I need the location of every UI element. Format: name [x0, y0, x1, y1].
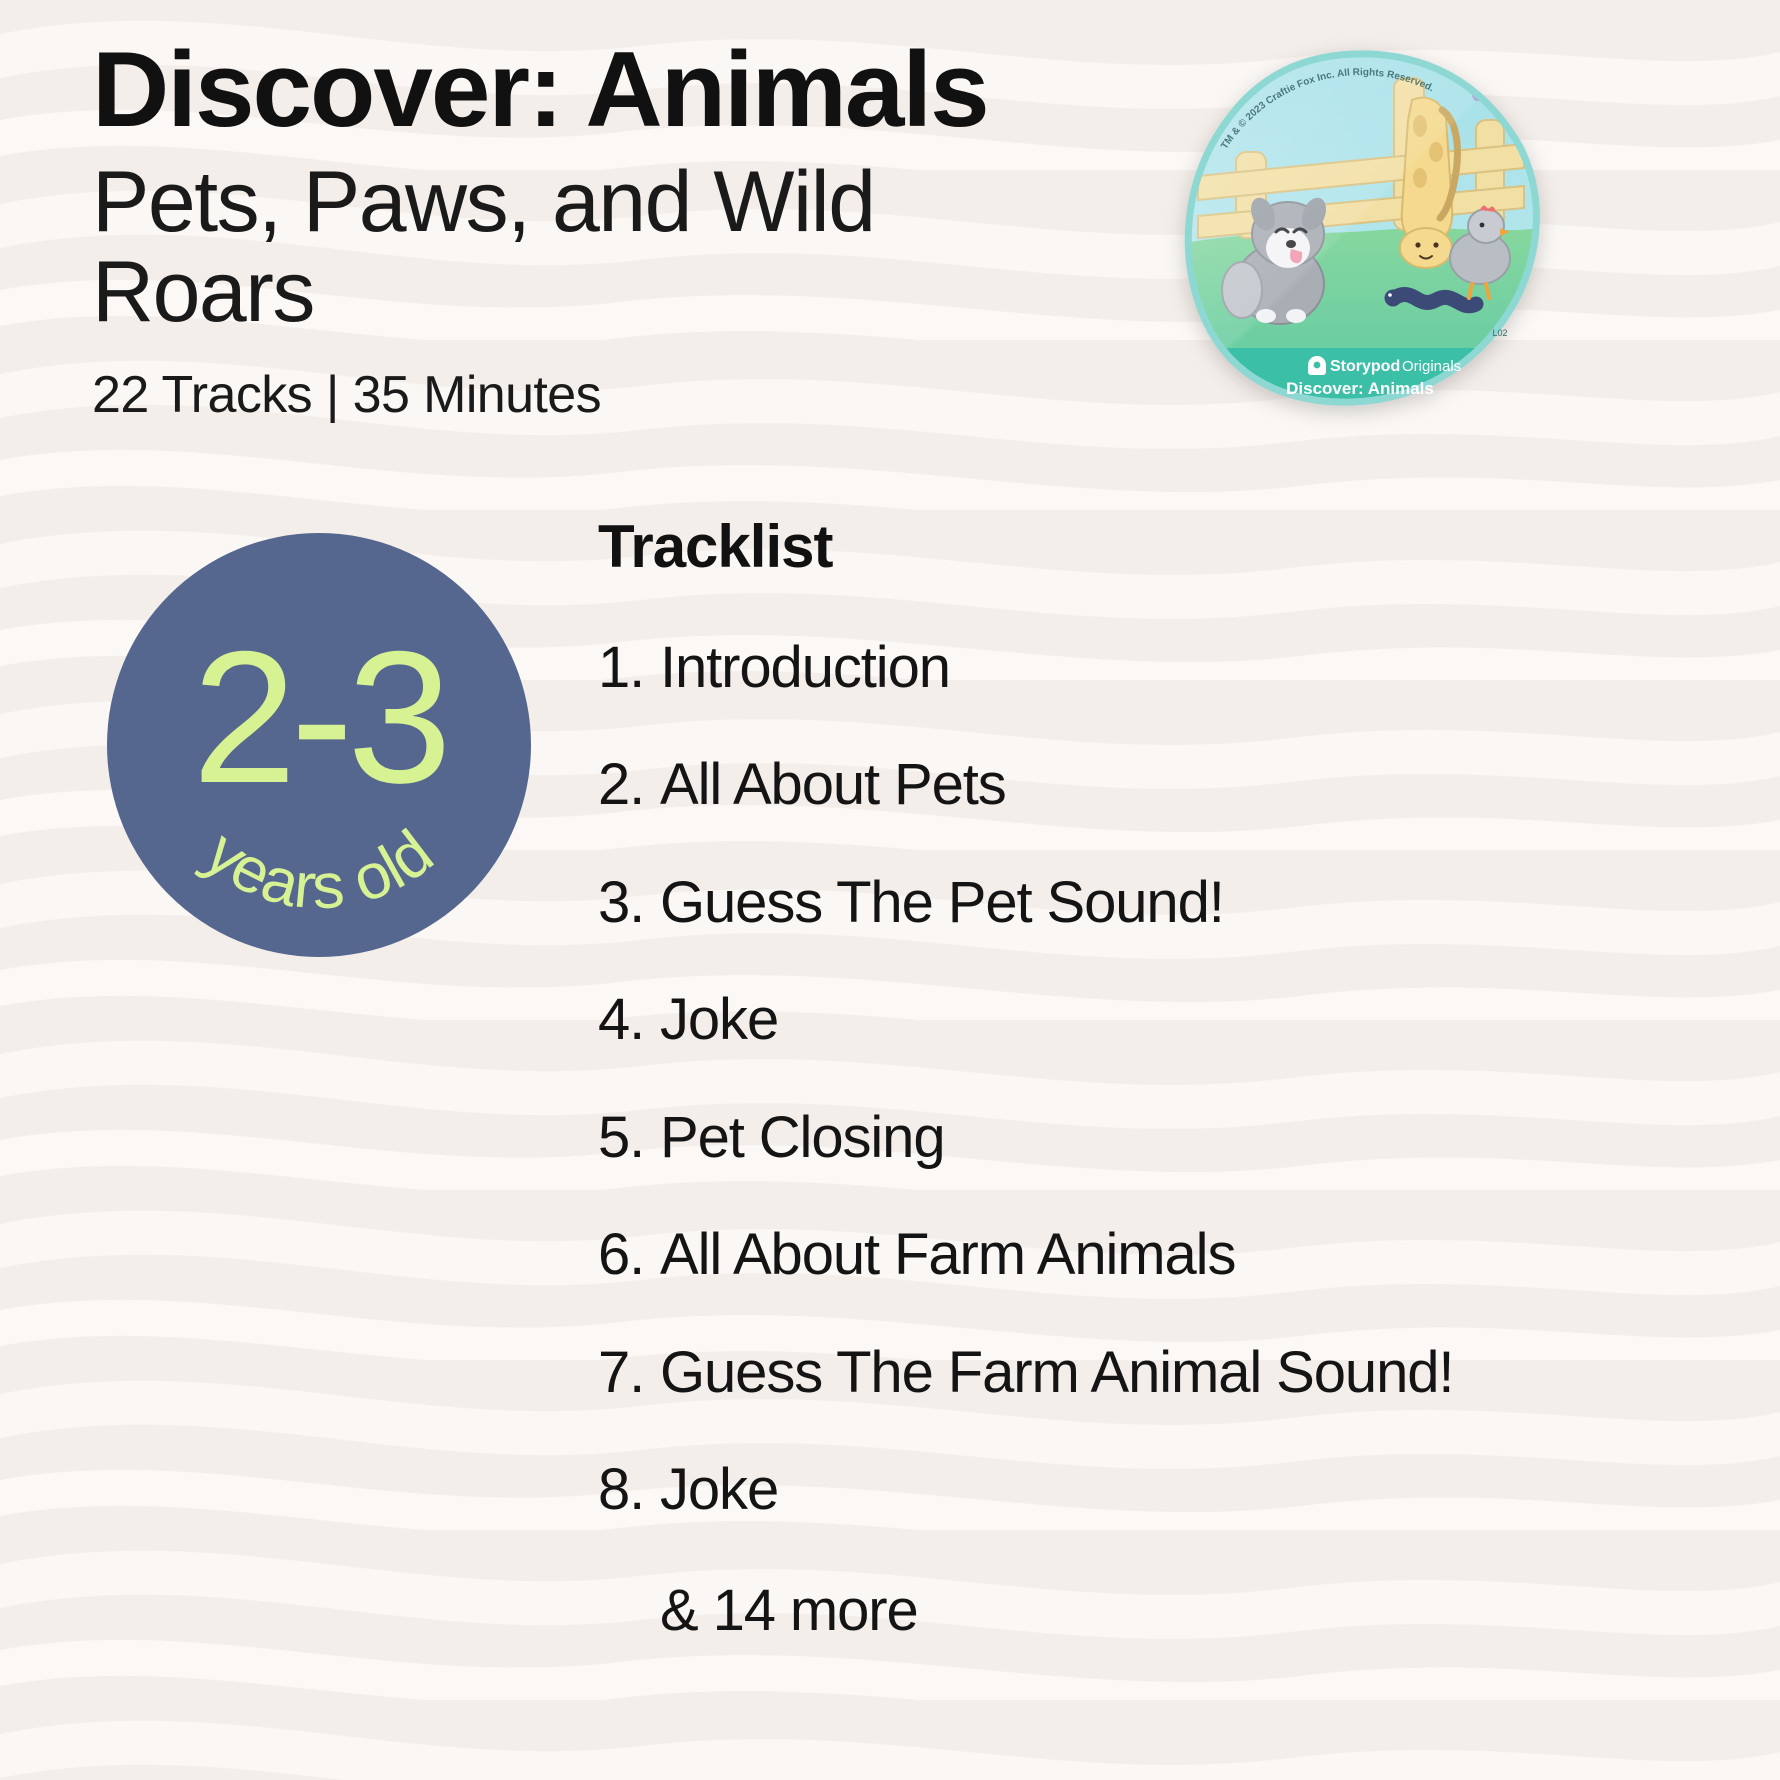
product-card[interactable]: TM & © 2023 Craftie Fox Inc. All Rights … — [1180, 48, 1540, 408]
track-item: 2.All About Pets — [598, 754, 1738, 815]
card-brand-suffix: Originals — [1402, 358, 1461, 375]
age-range: 2-3 — [192, 612, 446, 822]
track-item: 3.Guess The Pet Sound! — [598, 872, 1738, 933]
track-label: Guess The Farm Animal Sound! — [660, 1342, 1453, 1403]
track-item: 6.All About Farm Animals — [598, 1224, 1738, 1285]
card-code: L02 — [1492, 328, 1507, 338]
track-label: Joke — [660, 989, 778, 1050]
track-item: 1.Introduction — [598, 637, 1738, 698]
track-label: Joke — [660, 1459, 778, 1520]
track-label: Pet Closing — [660, 1107, 945, 1168]
track-number: 2. — [598, 754, 660, 815]
track-label: All About Pets — [660, 754, 1006, 815]
tracklist-section: Tracklist 1.Introduction2.All About Pets… — [598, 512, 1738, 1644]
track-label: Introduction — [660, 637, 950, 698]
track-number: 1. — [598, 637, 660, 698]
track-label: Guess The Pet Sound! — [660, 872, 1224, 933]
age-badge-artwork: 2-3 years old — [104, 530, 534, 960]
card-title: Discover: Animals — [1286, 379, 1434, 398]
track-item: 7.Guess The Farm Animal Sound! — [598, 1342, 1738, 1403]
track-item: 4.Joke — [598, 989, 1738, 1050]
track-item: 5.Pet Closing — [598, 1107, 1738, 1168]
card-brand: Storypod — [1330, 358, 1400, 375]
age-badge: 2-3 years old — [104, 530, 534, 960]
tracklist-heading: Tracklist — [598, 512, 1738, 581]
page-title: Discover: Animals — [92, 34, 1152, 144]
tracklist-items: 1.Introduction2.All About Pets3.Guess Th… — [598, 637, 1738, 1521]
track-number: 4. — [598, 989, 660, 1050]
card-brand-lockup: Storypod Originals — [1308, 356, 1461, 375]
track-number: 8. — [598, 1459, 660, 1520]
track-number: 7. — [598, 1342, 660, 1403]
header: Discover: Animals Pets, Paws, and Wild R… — [92, 34, 1152, 424]
track-number: 6. — [598, 1224, 660, 1285]
track-item: 8.Joke — [598, 1459, 1738, 1520]
tracklist-more-label: & 14 more — [660, 1577, 1738, 1644]
product-card-artwork: TM & © 2023 Craftie Fox Inc. All Rights … — [1180, 48, 1540, 408]
track-number: 3. — [598, 872, 660, 933]
track-number: 5. — [598, 1107, 660, 1168]
page-subtitle: Pets, Paws, and Wild Roars — [92, 158, 1052, 337]
poster-root: Discover: Animals Pets, Paws, and Wild R… — [0, 0, 1780, 1780]
track-label: All About Farm Animals — [660, 1224, 1235, 1285]
track-duration-meta: 22 Tracks | 35 Minutes — [92, 367, 1152, 424]
